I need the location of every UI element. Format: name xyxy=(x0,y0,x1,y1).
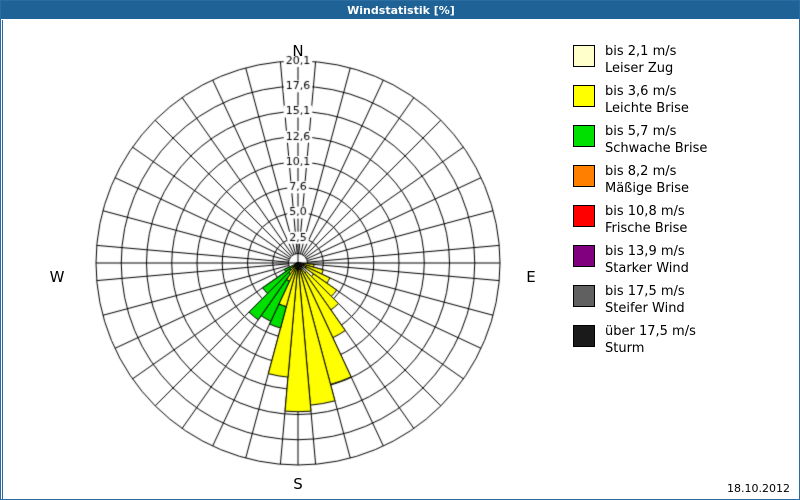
legend-name-label: Steifer Wind xyxy=(605,300,685,317)
legend-item: bis 3,6 m/s Leichte Brise xyxy=(573,83,793,117)
compass-label-west: W xyxy=(39,268,75,286)
chart-date: 18.10.2012 xyxy=(727,482,790,495)
legend-name-label: Frische Brise xyxy=(605,220,687,237)
legend-speed-label: bis 17,5 m/s xyxy=(605,283,685,300)
window-title: Windstatistik [%] xyxy=(347,4,455,17)
legend-speed-label: bis 8,2 m/s xyxy=(605,163,689,180)
legend-name-label: Leichte Brise xyxy=(605,100,689,117)
legend-swatch-icon xyxy=(573,125,595,147)
legend-swatch-icon xyxy=(573,165,595,187)
legend-item: bis 5,7 m/s Schwache Brise xyxy=(573,123,793,157)
legend-item: bis 10,8 m/s Frische Brise xyxy=(573,203,793,237)
legend-speed-label: über 17,5 m/s xyxy=(605,323,696,340)
legend-swatch-icon xyxy=(573,325,595,347)
legend-swatch-icon xyxy=(573,85,595,107)
legend-speed-label: bis 10,8 m/s xyxy=(605,203,687,220)
windstatistik-window: Windstatistik [%] N S W E bis 2,1 m/s Le… xyxy=(0,0,800,500)
legend-swatch-icon xyxy=(573,245,595,267)
legend-item: über 17,5 m/s Sturm xyxy=(573,323,793,357)
window-titlebar: Windstatistik [%] xyxy=(1,1,800,19)
legend-item: bis 2,1 m/s Leiser Zug xyxy=(573,43,793,77)
legend-swatch-icon xyxy=(573,45,595,67)
legend-swatch-icon xyxy=(573,285,595,307)
wind-rose-chart: N S W E xyxy=(3,20,563,499)
legend-item: bis 13,9 m/s Starker Wind xyxy=(573,243,793,277)
legend-speed-label: bis 3,6 m/s xyxy=(605,83,689,100)
legend-speed-label: bis 2,1 m/s xyxy=(605,43,676,60)
legend-item: bis 17,5 m/s Steifer Wind xyxy=(573,283,793,317)
legend-speed-label: bis 5,7 m/s xyxy=(605,123,707,140)
legend-name-label: Mäßige Brise xyxy=(605,180,689,197)
legend: bis 2,1 m/s Leiser Zug bis 3,6 m/s Leich… xyxy=(573,43,793,363)
legend-swatch-icon xyxy=(573,205,595,227)
legend-name-label: Schwache Brise xyxy=(605,140,707,157)
window-content: N S W E bis 2,1 m/s Leiser Zug bis 3,6 m… xyxy=(2,20,800,499)
legend-speed-label: bis 13,9 m/s xyxy=(605,243,689,260)
legend-name-label: Sturm xyxy=(605,340,696,357)
legend-name-label: Leiser Zug xyxy=(605,60,676,77)
legend-name-label: Starker Wind xyxy=(605,260,689,277)
compass-label-east: E xyxy=(513,268,549,286)
compass-label-north: N xyxy=(280,42,316,60)
compass-label-south: S xyxy=(280,475,316,493)
wind-rose-canvas xyxy=(3,20,563,499)
legend-item: bis 8,2 m/s Mäßige Brise xyxy=(573,163,793,197)
